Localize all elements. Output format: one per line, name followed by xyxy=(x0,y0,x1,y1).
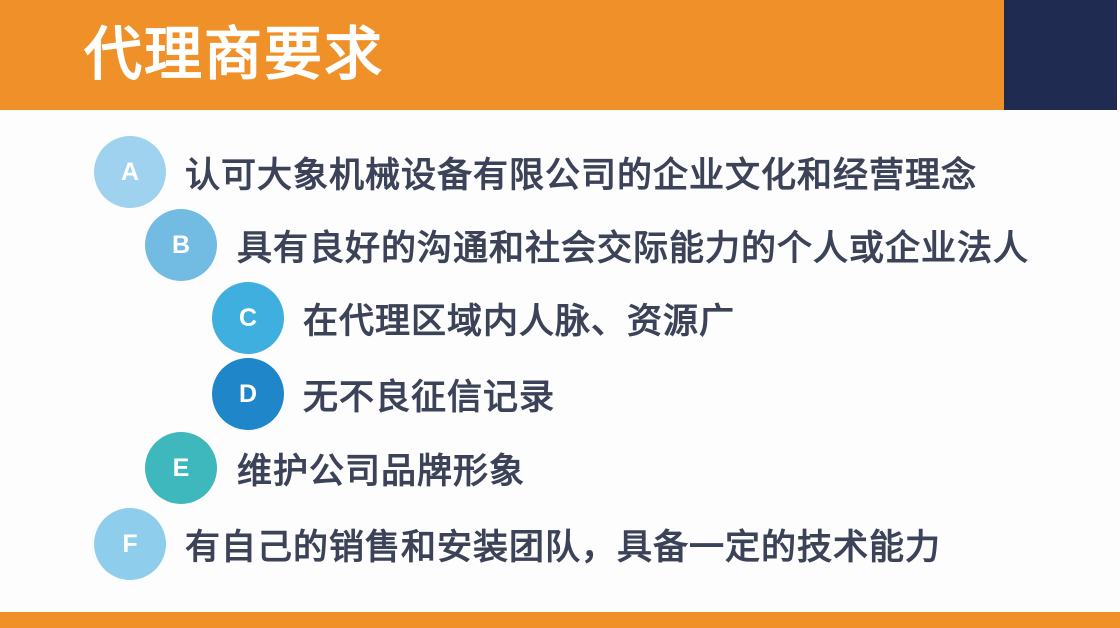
list-item-badge-f: F xyxy=(94,508,166,580)
slide: 代理商要求 A 认可大象机械设备有限公司的企业文化和经营理念 B 具有良好的沟通… xyxy=(0,0,1120,628)
list-item: D 无不良征信记录 xyxy=(0,358,1120,430)
list-item-badge-c: C xyxy=(212,282,284,354)
list-item-text-d: 无不良征信记录 xyxy=(303,358,555,430)
list-item-badge-d: D xyxy=(212,358,284,430)
footer-accent-bar xyxy=(0,612,1120,628)
requirements-list: A 认可大象机械设备有限公司的企业文化和经营理念 B 具有良好的沟通和社会交际能… xyxy=(0,110,1120,612)
list-item: F 有自己的销售和安装团队，具备一定的技术能力 xyxy=(0,508,1120,580)
header-navy-block xyxy=(1004,0,1117,110)
list-item-badge-a: A xyxy=(94,136,166,208)
list-item-text-b: 具有良好的沟通和社会交际能力的个人或企业法人 xyxy=(237,209,1029,281)
list-item-text-f: 有自己的销售和安装团队，具备一定的技术能力 xyxy=(185,508,941,580)
list-item: B 具有良好的沟通和社会交际能力的个人或企业法人 xyxy=(0,209,1120,281)
list-item-text-e: 维护公司品牌形象 xyxy=(237,432,525,504)
list-item-badge-b: B xyxy=(145,209,217,281)
slide-header: 代理商要求 xyxy=(0,0,1120,110)
page-title: 代理商要求 xyxy=(84,22,384,88)
list-item-text-a: 认可大象机械设备有限公司的企业文化和经营理念 xyxy=(185,136,977,208)
list-item: A 认可大象机械设备有限公司的企业文化和经营理念 xyxy=(0,136,1120,208)
list-item-text-c: 在代理区域内人脉、资源广 xyxy=(303,282,735,354)
list-item: C 在代理区域内人脉、资源广 xyxy=(0,282,1120,354)
list-item: E 维护公司品牌形象 xyxy=(0,432,1120,504)
list-item-badge-e: E xyxy=(145,432,217,504)
